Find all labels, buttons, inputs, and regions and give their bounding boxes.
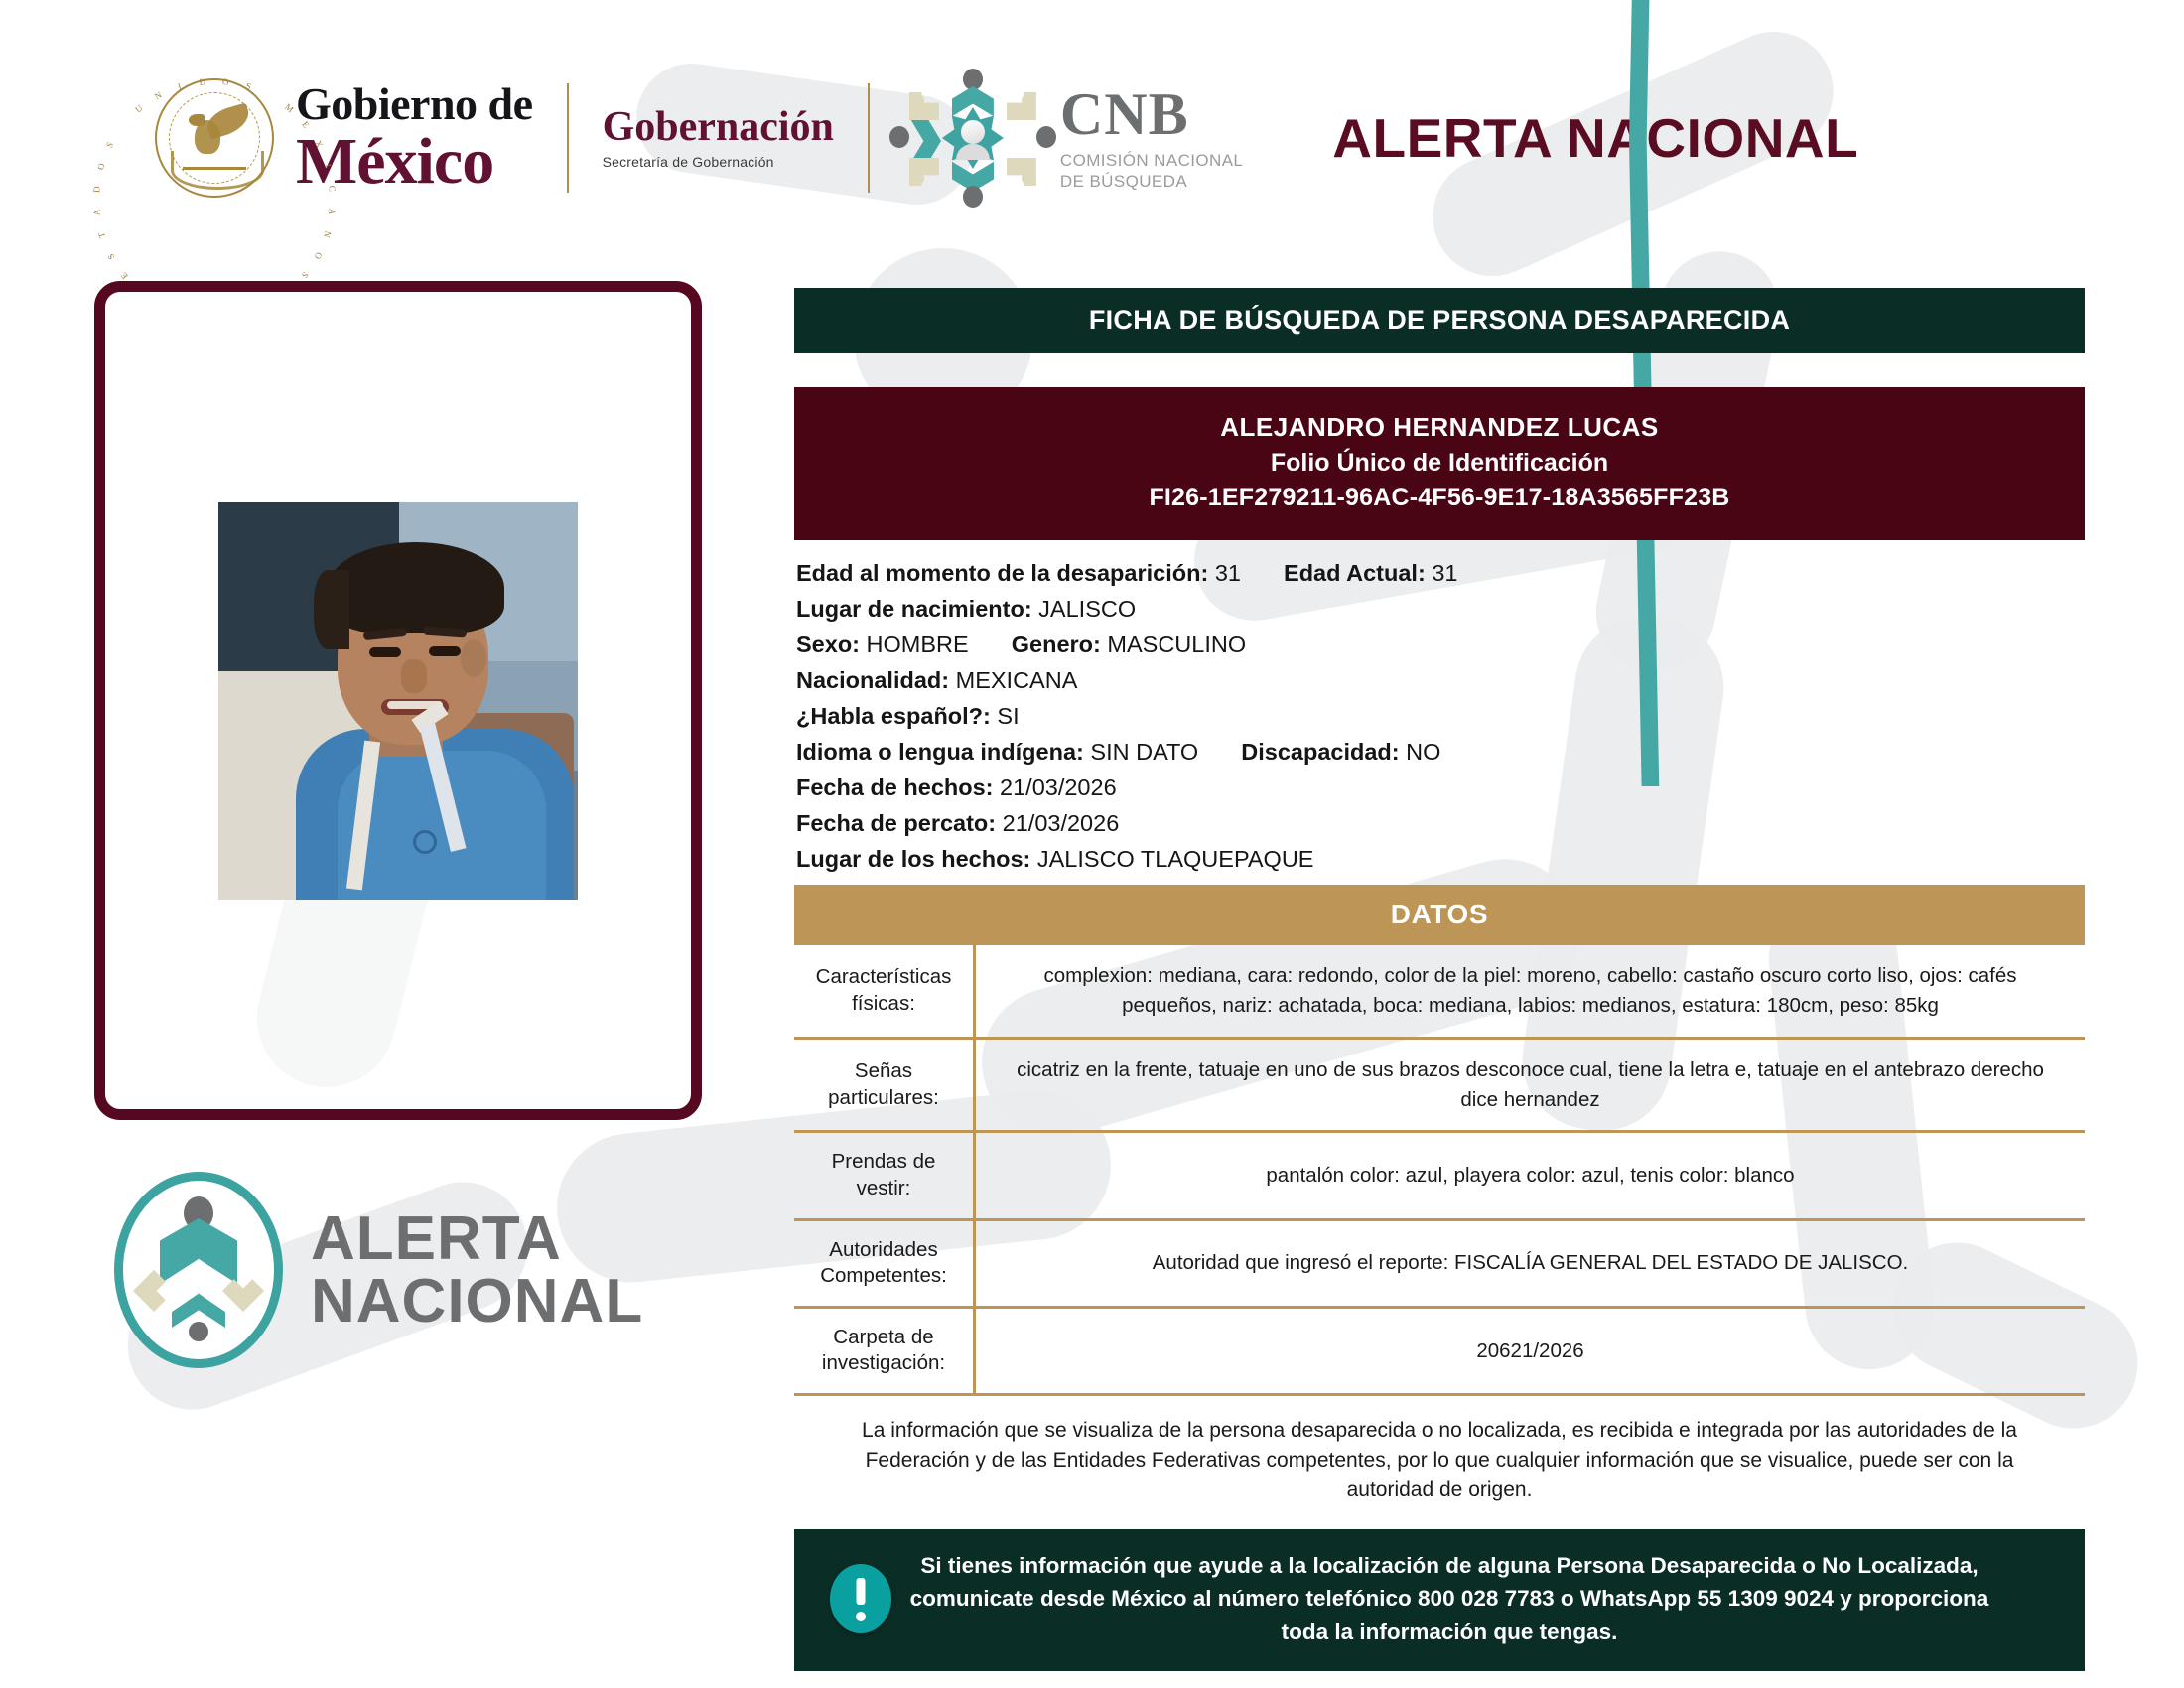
header-divider-2 <box>868 83 870 193</box>
contact-banner: Si tienes información que ayude a la loc… <box>794 1529 2085 1671</box>
cnb-subtitle-line1: COMISIÓN NACIONAL <box>1060 150 1243 171</box>
row-label: Prendas de vestir: <box>794 1132 975 1219</box>
table-row: Carpeta de investigación: 20621/2026 <box>794 1307 2085 1394</box>
fecha-percato-label: Fecha de percato: <box>796 810 996 836</box>
detail-row-edad: Edad al momento de la desaparición: 31 E… <box>796 562 2085 586</box>
row-value: cicatriz en la frente, tatuaje en uno de… <box>975 1038 2086 1131</box>
row-label: Autoridades Competentes: <box>794 1219 975 1307</box>
person-details-list: Edad al momento de la desaparición: 31 E… <box>794 562 2085 872</box>
edad-desaparicion-value: 31 <box>1215 560 1241 586</box>
header-divider-1 <box>567 83 569 193</box>
detail-row-idioma-discapacidad: Idioma o lengua indígena: SIN DATO Disca… <box>796 741 2085 765</box>
gobernacion-subtitle: Secretaría de Gobernación <box>603 154 834 170</box>
contact-text: Si tienes información que ayude a la loc… <box>909 1549 2045 1649</box>
alerta-logo-line2: NACIONAL <box>311 1270 643 1333</box>
datos-header-band: DATOS <box>794 885 2085 945</box>
datos-table: Características físicas: complexion: med… <box>794 945 2085 1396</box>
table-row: Prendas de vestir: pantalón color: azul,… <box>794 1132 2085 1219</box>
gobierno-line1: Gobierno de <box>296 81 533 127</box>
table-row: Autoridades Competentes: Autoridad que i… <box>794 1219 2085 1307</box>
detail-row-fecha-percato: Fecha de percato: 21/03/2026 <box>796 812 2085 836</box>
lugar-nacimiento-value: JALISCO <box>1038 596 1136 622</box>
row-value: pantalón color: azul, playera color: azu… <box>975 1132 2086 1219</box>
alerta-nacional-logo: ALERTA NACIONAL <box>114 1172 643 1368</box>
fecha-hechos-label: Fecha de hechos: <box>796 774 994 800</box>
nacionalidad-value: MEXICANA <box>956 667 1078 693</box>
lugar-hechos-label: Lugar de los hechos: <box>796 846 1030 872</box>
lugar-nacimiento-label: Lugar de nacimiento: <box>796 596 1032 622</box>
gobierno-de-mexico-logo: ESTADOS UNIDOS MEXICANOS Gobierno de Méx… <box>149 72 533 204</box>
row-label: Características físicas: <box>794 945 975 1038</box>
detail-row-nacionalidad: Nacionalidad: MEXICANA <box>796 669 2085 693</box>
edad-actual-label: Edad Actual: <box>1284 560 1426 586</box>
page-header: ESTADOS UNIDOS MEXICANOS Gobierno de Méx… <box>0 0 2184 276</box>
alert-page: ESTADOS UNIDOS MEXICANOS Gobierno de Méx… <box>0 0 2184 1688</box>
edad-desaparicion-label: Edad al momento de la desaparición: <box>796 560 1208 586</box>
lugar-hechos-value: JALISCO TLAQUEPAQUE <box>1037 846 1314 872</box>
cnb-acronym: CNB <box>1060 84 1243 144</box>
ficha-title-band: FICHA DE BÚSQUEDA DE PERSONA DESAPARECID… <box>794 288 2085 353</box>
missing-person-photo <box>218 502 578 900</box>
folio-label: Folio Único de Identificación <box>794 446 2085 482</box>
row-label: Carpeta de investigación: <box>794 1307 975 1394</box>
genero-value: MASCULINO <box>1107 632 1246 657</box>
discapacidad-label: Discapacidad: <box>1241 739 1399 765</box>
alerta-badge-icon <box>114 1172 283 1368</box>
detail-row-fecha-hechos: Fecha de hechos: 21/03/2026 <box>796 776 2085 800</box>
cnb-mandala-icon <box>903 69 1042 208</box>
photo-frame <box>94 281 702 1120</box>
person-identity-band: ALEJANDRO HERNANDEZ LUCAS Folio Único de… <box>794 387 2085 540</box>
detail-row-lugar-hechos: Lugar de los hechos: JALISCO TLAQUEPAQUE <box>796 848 2085 872</box>
idioma-value: SIN DATO <box>1090 739 1198 765</box>
seal-lettering: ESTADOS UNIDOS MEXICANOS <box>149 72 280 204</box>
habla-espanol-value: SI <box>997 703 1019 729</box>
row-value: complexion: mediana, cara: redondo, colo… <box>975 945 2086 1038</box>
table-row: Señas particulares: cicatriz en la frent… <box>794 1038 2085 1131</box>
genero-label: Genero: <box>1012 632 1101 657</box>
edad-actual-value: 31 <box>1432 560 1457 586</box>
row-value: Autoridad que ingresó el reporte: FISCAL… <box>975 1219 2086 1307</box>
mexican-coat-of-arms-icon: ESTADOS UNIDOS MEXICANOS <box>149 72 280 204</box>
disclaimer-text: La información que se visualiza de la pe… <box>794 1396 2085 1522</box>
habla-espanol-label: ¿Habla español?: <box>796 703 991 729</box>
fecha-hechos-value: 21/03/2026 <box>1000 774 1117 800</box>
discapacidad-value: NO <box>1406 739 1440 765</box>
detail-row-habla-espanol: ¿Habla español?: SI <box>796 705 2085 729</box>
alerta-nacional-title: ALERTA NACIONAL <box>1332 106 1858 170</box>
fecha-percato-value: 21/03/2026 <box>1003 810 1120 836</box>
sexo-value: HOMBRE <box>867 632 969 657</box>
main-content: FICHA DE BÚSQUEDA DE PERSONA DESAPARECID… <box>794 288 2085 1671</box>
detail-row-sexo-genero: Sexo: HOMBRE Genero: MASCULINO <box>796 633 2085 657</box>
row-label: Señas particulares: <box>794 1038 975 1131</box>
gobernacion-title: Gobernación <box>603 106 834 148</box>
detail-row-lugar-nacimiento: Lugar de nacimiento: JALISCO <box>796 598 2085 622</box>
cnb-logo: CNB COMISIÓN NACIONAL DE BÚSQUEDA <box>903 69 1243 208</box>
nacionalidad-label: Nacionalidad: <box>796 667 949 693</box>
folio-value: FI26-1EF279211-96AC-4F56-9E17-18A3565FF2… <box>794 481 2085 516</box>
sexo-label: Sexo: <box>796 632 860 657</box>
idioma-label: Idioma o lengua indígena: <box>796 739 1084 765</box>
cnb-subtitle-line2: DE BÚSQUEDA <box>1060 171 1243 192</box>
row-value: 20621/2026 <box>975 1307 2086 1394</box>
person-name: ALEJANDRO HERNANDEZ LUCAS <box>794 409 2085 446</box>
exclamation-icon <box>830 1564 891 1633</box>
gobernacion-logo: Gobernación Secretaría de Gobernación <box>603 106 834 170</box>
table-row: Características físicas: complexion: med… <box>794 945 2085 1038</box>
alerta-logo-line1: ALERTA <box>311 1207 643 1270</box>
